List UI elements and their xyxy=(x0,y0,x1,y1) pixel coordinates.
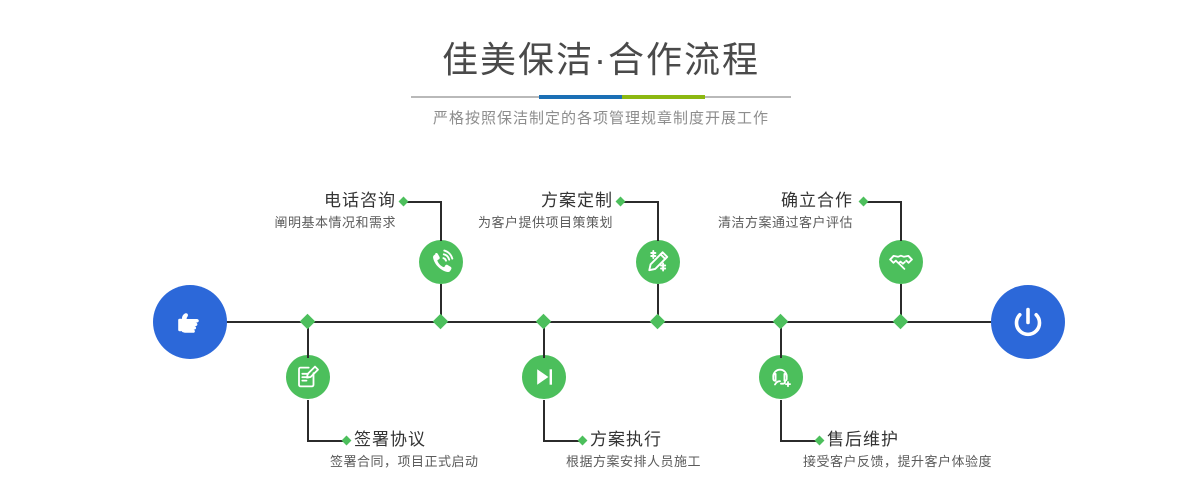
divider-blue-segment xyxy=(539,95,622,99)
play-execute-icon xyxy=(530,363,558,391)
step-6-label: 售后维护 接受客户反馈，提升客户体验度 xyxy=(827,429,1117,473)
step-2-axis-diamond xyxy=(300,314,316,330)
step-5-connector-vertical xyxy=(900,201,902,241)
step-5-desc: 清洁方案通过客户评估 xyxy=(608,212,853,234)
step-4-connector-vertical xyxy=(543,400,545,441)
step-5-label-dot xyxy=(859,197,869,207)
step-3-title: 方案定制 xyxy=(370,190,613,212)
title-divider xyxy=(411,95,791,99)
customer-service-icon xyxy=(767,363,795,391)
step-6-axis-diamond xyxy=(773,314,789,330)
pencil-draft-icon xyxy=(644,248,672,276)
step-2-connector-horizontal xyxy=(307,440,346,442)
step-3-label: 方案定制 为客户提供项目策策划 xyxy=(370,190,613,234)
step-5-icon-node[interactable] xyxy=(879,240,923,284)
pointing-hand-icon xyxy=(170,302,210,342)
step-6-title: 售后维护 xyxy=(827,429,1117,451)
step-5-connector-horizontal xyxy=(863,201,902,203)
handshake-icon xyxy=(887,248,915,276)
step-1-title: 电话咨询 xyxy=(150,190,396,212)
step-1-label: 电话咨询 阐明基本情况和需求 xyxy=(150,190,396,234)
step-2-connector-vertical xyxy=(307,400,309,441)
step-3-icon-node[interactable] xyxy=(636,240,680,284)
step-2-label-dot xyxy=(342,436,352,446)
step-5-title: 确立合作 xyxy=(608,190,853,212)
step-2-icon-node[interactable] xyxy=(286,355,330,399)
step-3-axis-diamond xyxy=(650,314,666,330)
step-6-connector-horizontal xyxy=(780,440,819,442)
step-1-icon-node[interactable] xyxy=(419,240,463,284)
divider-green-segment xyxy=(622,95,705,99)
step-5-label: 确立合作 清洁方案通过客户评估 xyxy=(608,190,853,234)
step-3-desc: 为客户提供项目策策划 xyxy=(370,212,613,234)
step-5-axis-diamond xyxy=(893,314,909,330)
document-edit-icon xyxy=(294,363,322,391)
page-title: 佳美保洁·合作流程 xyxy=(0,38,1202,82)
power-button-icon xyxy=(1007,301,1049,343)
step-6-icon-node[interactable] xyxy=(759,355,803,399)
step-6-connector-vertical xyxy=(780,400,782,441)
timeline-end-endpoint xyxy=(991,285,1065,359)
step-6-desc: 接受客户反馈，提升客户体验度 xyxy=(803,451,1117,473)
phone-call-icon xyxy=(427,248,455,276)
step-1-desc: 阐明基本情况和需求 xyxy=(150,212,396,234)
process-flow-infographic: 佳美保洁·合作流程 严格按照保洁制定的各项管理规章制度开展工作 xyxy=(0,0,1202,502)
step-1-axis-diamond xyxy=(433,314,449,330)
timeline-start-endpoint xyxy=(153,285,227,359)
page-subtitle: 严格按照保洁制定的各项管理规章制度开展工作 xyxy=(0,107,1202,131)
step-4-axis-diamond xyxy=(536,314,552,330)
step-4-icon-node[interactable] xyxy=(522,355,566,399)
step-4-connector-horizontal xyxy=(543,440,582,442)
